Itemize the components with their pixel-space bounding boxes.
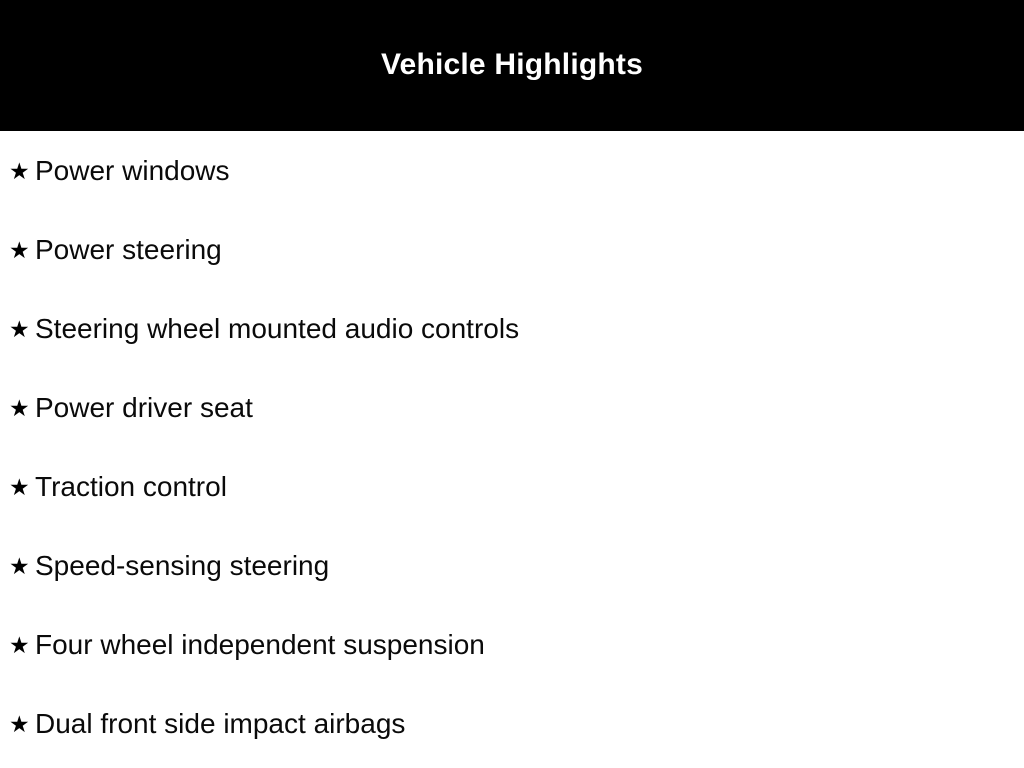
star-bullet-icon: ★	[0, 240, 34, 263]
list-item: ★ Power steering	[0, 210, 1024, 289]
list-item-label: Traction control	[35, 473, 227, 501]
list-item-label: Speed-sensing steering	[35, 552, 329, 580]
vehicle-highlights-list: ★ Power windows ★ Power steering ★ Steer…	[0, 131, 1024, 763]
list-item: ★ Power windows	[0, 131, 1024, 210]
list-item: ★ Power driver seat	[0, 368, 1024, 447]
star-bullet-icon: ★	[0, 161, 34, 184]
star-bullet-icon: ★	[0, 556, 34, 579]
list-item-label: Power steering	[35, 236, 222, 264]
star-bullet-icon: ★	[0, 319, 34, 342]
star-bullet-icon: ★	[0, 398, 34, 421]
list-item-label: Dual front side impact airbags	[35, 710, 405, 738]
star-bullet-icon: ★	[0, 477, 34, 500]
list-item: ★ Speed-sensing steering	[0, 526, 1024, 605]
list-item: ★ Four wheel independent suspension	[0, 605, 1024, 684]
list-item: ★ Dual front side impact airbags	[0, 684, 1024, 763]
header-bar: Vehicle Highlights	[0, 0, 1024, 131]
page-title: Vehicle Highlights	[381, 50, 643, 80]
list-item: ★ Steering wheel mounted audio controls	[0, 289, 1024, 368]
star-bullet-icon: ★	[0, 714, 34, 737]
star-bullet-icon: ★	[0, 635, 34, 658]
list-item-label: Steering wheel mounted audio controls	[35, 315, 519, 343]
list-item-label: Four wheel independent suspension	[35, 631, 485, 659]
vehicle-highlights-slide: Vehicle Highlights ★ Power windows ★ Pow…	[0, 0, 1024, 768]
list-item-label: Power windows	[35, 157, 230, 185]
list-item: ★ Traction control	[0, 447, 1024, 526]
list-item-label: Power driver seat	[35, 394, 253, 422]
